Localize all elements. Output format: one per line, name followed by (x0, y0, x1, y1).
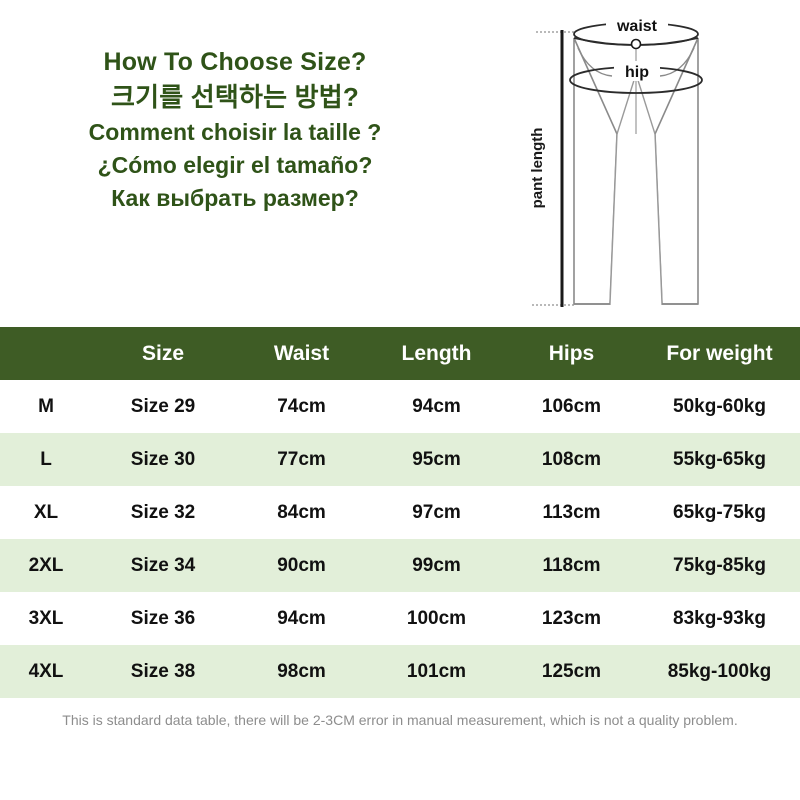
pant-length-label: pant length (529, 128, 546, 209)
cell-size: Size 32 (92, 486, 234, 539)
pants-diagram: pant length (520, 8, 800, 323)
cell-weight: 75kg-85kg (639, 539, 800, 592)
pants-inseam-left (617, 74, 636, 134)
column-header-code (0, 327, 92, 380)
cell-hips: 106cm (504, 380, 639, 433)
cell-hips: 118cm (504, 539, 639, 592)
cell-waist: 94cm (234, 592, 369, 645)
cell-length: 100cm (369, 592, 504, 645)
table-header-row: Size Waist Length Hips For weight (0, 327, 800, 380)
cell-length: 95cm (369, 433, 504, 486)
heading-spanish: ¿Cómo elegir el tamaño? (0, 152, 470, 179)
cell-size-code: M (0, 380, 92, 433)
table-row: XL Size 32 84cm 97cm 113cm 65kg-75kg (0, 486, 800, 539)
cell-size-code: 3XL (0, 592, 92, 645)
waist-label: waist (616, 18, 658, 35)
cell-length: 94cm (369, 380, 504, 433)
cell-length: 101cm (369, 645, 504, 698)
heading-russian: Как выбрать размер? (0, 185, 470, 212)
cell-length: 99cm (369, 539, 504, 592)
cell-size: Size 29 (92, 380, 234, 433)
cell-size: Size 30 (92, 433, 234, 486)
pants-illustration-svg: pant length (520, 8, 800, 323)
cell-length: 97cm (369, 486, 504, 539)
pants-crotch-fill (610, 134, 662, 304)
cell-weight: 50kg-60kg (639, 380, 800, 433)
heading-french: Comment choisir la taille ? (0, 119, 470, 146)
cell-size-code: XL (0, 486, 92, 539)
heading-english: How To Choose Size? (0, 48, 470, 78)
size-table: Size Waist Length Hips For weight M Size… (0, 327, 800, 698)
table-row: 3XL Size 36 94cm 100cm 123cm 83kg-93kg (0, 592, 800, 645)
cell-size: Size 34 (92, 539, 234, 592)
cell-size: Size 38 (92, 645, 234, 698)
cell-hips: 123cm (504, 592, 639, 645)
cell-hips: 113cm (504, 486, 639, 539)
table-row: 4XL Size 38 98cm 101cm 125cm 85kg-100kg (0, 645, 800, 698)
pants-right-leg (655, 38, 698, 304)
column-header-hips: Hips (504, 327, 639, 380)
column-header-size: Size (92, 327, 234, 380)
table-row: L Size 30 77cm 95cm 108cm 55kg-65kg (0, 433, 800, 486)
waist-button-icon (632, 40, 641, 49)
top-section: How To Choose Size? 크기를 선택하는 방법? Comment… (0, 0, 800, 327)
size-table-body: M Size 29 74cm 94cm 106cm 50kg-60kg L Si… (0, 380, 800, 698)
cell-weight: 85kg-100kg (639, 645, 800, 698)
table-row: 2XL Size 34 90cm 99cm 118cm 75kg-85kg (0, 539, 800, 592)
cell-size: Size 36 (92, 592, 234, 645)
cell-waist: 84cm (234, 486, 369, 539)
cell-size-code: 4XL (0, 645, 92, 698)
table-row: M Size 29 74cm 94cm 106cm 50kg-60kg (0, 380, 800, 433)
headings-block: How To Choose Size? 크기를 선택하는 방법? Comment… (0, 48, 470, 213)
hip-label: hip (625, 64, 649, 81)
heading-korean: 크기를 선택하는 방법? (0, 82, 470, 113)
size-chart-page: How To Choose Size? 크기를 선택하는 방법? Comment… (0, 0, 800, 800)
pants-left-leg (574, 38, 617, 304)
column-header-waist: Waist (234, 327, 369, 380)
cell-weight: 65kg-75kg (639, 486, 800, 539)
cell-weight: 55kg-65kg (639, 433, 800, 486)
cell-size-code: L (0, 433, 92, 486)
cell-waist: 90cm (234, 539, 369, 592)
cell-waist: 98cm (234, 645, 369, 698)
measurement-disclaimer: This is standard data table, there will … (0, 712, 800, 728)
cell-hips: 108cm (504, 433, 639, 486)
size-table-header: Size Waist Length Hips For weight (0, 327, 800, 380)
cell-waist: 77cm (234, 433, 369, 486)
cell-size-code: 2XL (0, 539, 92, 592)
cell-hips: 125cm (504, 645, 639, 698)
column-header-length: Length (369, 327, 504, 380)
cell-waist: 74cm (234, 380, 369, 433)
cell-weight: 83kg-93kg (639, 592, 800, 645)
column-header-weight: For weight (639, 327, 800, 380)
pants-inseam-right (636, 74, 655, 134)
